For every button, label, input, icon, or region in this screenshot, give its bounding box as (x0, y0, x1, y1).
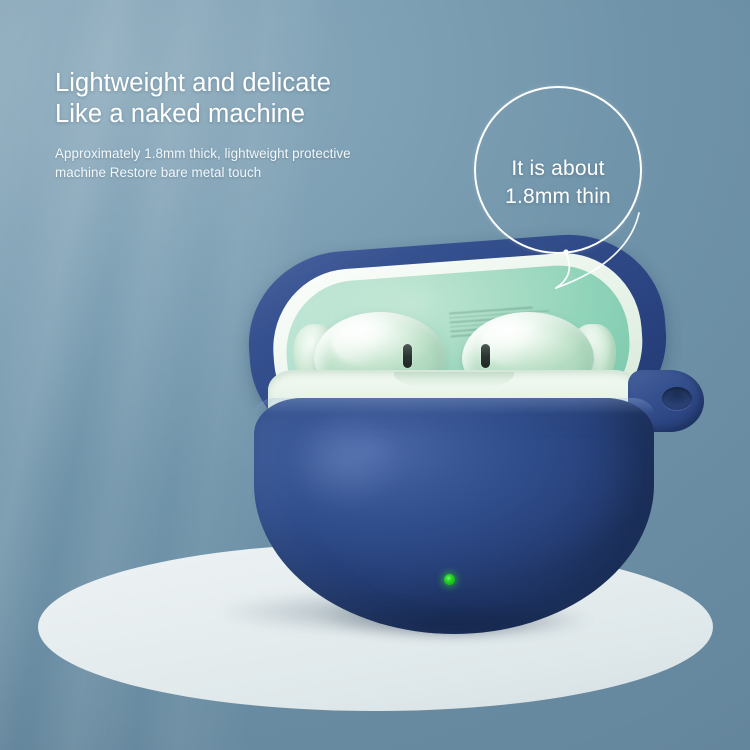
page-title: Lightweight and delicate Like a naked ma… (55, 68, 331, 130)
headline-line-1: Lightweight and delicate (55, 69, 331, 97)
subheadline-line-1: Approximately 1.8mm thick, lightweight p… (55, 146, 351, 161)
earbud-right-vent-icon (481, 344, 490, 368)
headline-line-2: Like a naked machine (55, 100, 305, 128)
product-marketing-image: Lightweight and delicate Like a naked ma… (0, 0, 750, 750)
case-tray-notch (394, 372, 514, 388)
case-body-top-edge (254, 398, 654, 414)
case-body-highlight (278, 412, 446, 549)
earbud-right-highlight (480, 320, 562, 367)
callout-line-1: It is about (511, 157, 604, 180)
case-body (254, 398, 654, 634)
callout-label: It is about 1.8mm thin (474, 155, 642, 211)
earbud-left-vent-icon (403, 344, 412, 368)
subheadline-line-2: machine Restore bare metal touch (55, 165, 261, 180)
charging-led-indicator (444, 574, 455, 585)
page-subtitle: Approximately 1.8mm thick, lightweight p… (55, 145, 351, 182)
callout-line-2: 1.8mm thin (505, 185, 611, 208)
lanyard-hole-icon (662, 387, 692, 410)
